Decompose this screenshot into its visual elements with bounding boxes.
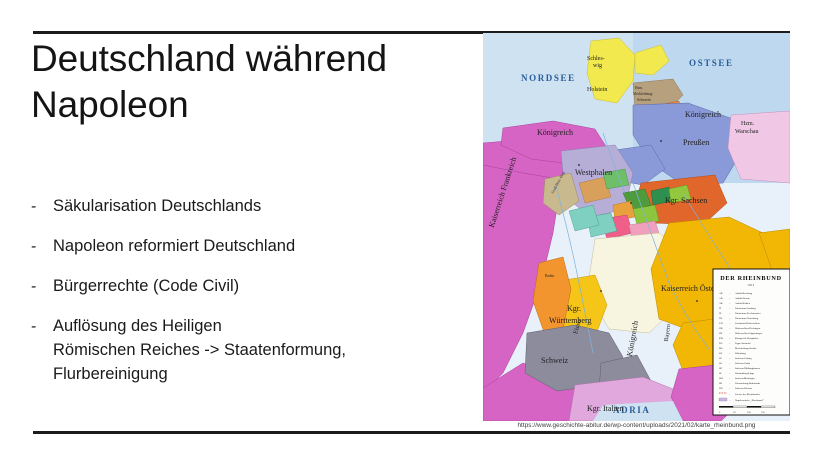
- list-item: - Auflösung des Heiligen Römischen Reich…: [31, 315, 476, 387]
- svg-text:Schaumburg-Lippe: Schaumburg-Lippe: [735, 372, 755, 375]
- svg-text:Mecklenburg-Strelitz: Mecklenburg-Strelitz: [735, 347, 757, 350]
- map-region-label: Preußen: [683, 138, 709, 147]
- svg-text:FI: FI: [719, 307, 721, 310]
- svg-text:HD: HD: [719, 327, 723, 330]
- svg-text:SC: SC: [719, 357, 722, 360]
- list-item-label: Napoleon reformiert Deutschland: [53, 235, 476, 259]
- svg-text:FL: FL: [719, 312, 722, 315]
- page-title: Deutschland während Napoleon: [31, 36, 481, 127]
- svg-text:AD: AD: [719, 297, 723, 300]
- svg-text:Sachsen-Meiningen: Sachsen-Meiningen: [735, 377, 756, 380]
- legend-year: 1812: [747, 284, 754, 287]
- svg-text:Oldenburg: Oldenburg: [735, 352, 746, 355]
- svg-text:SW: SW: [719, 387, 723, 390]
- svg-text:Sachsen-Gotha: Sachsen-Gotha: [735, 362, 751, 365]
- legend-title: DER RHEINBUND: [720, 275, 782, 282]
- map-region-label: Schweiz: [541, 356, 569, 365]
- list-item-label: Bürgerrechte (Code Civil): [53, 275, 476, 299]
- svg-text:Napoleonische „Rheinbund“: Napoleonische „Rheinbund“: [735, 399, 764, 402]
- svg-text:Sachsen-Weimar: Sachsen-Weimar: [735, 387, 752, 390]
- svg-text:FN: FN: [719, 317, 722, 320]
- svg-text:Grafschaft Hohenzollern: Grafschaft Hohenzollern: [735, 322, 761, 325]
- bullet-marker: -: [31, 195, 53, 218]
- bullet-marker: -: [31, 315, 53, 338]
- historical-map-image: NORDSEE OSTSEE ADRIA Schles- wig Holstei…: [483, 33, 790, 421]
- map-region-label: Kgr. Italien: [587, 404, 623, 413]
- map-region-label: Königreich: [685, 110, 721, 119]
- svg-text:SH: SH: [719, 367, 722, 370]
- map-region-label: Warschau: [735, 129, 759, 135]
- svg-text:Fürstentum Neuenburg: Fürstentum Neuenburg: [735, 317, 759, 320]
- bullet-marker: -: [31, 235, 53, 258]
- map-region-label: Kgr.: [567, 304, 581, 313]
- svg-text:Hohenzollern-Sigmaringen: Hohenzollern-Sigmaringen: [735, 332, 763, 335]
- svg-text:AK: AK: [719, 302, 723, 305]
- list-item: - Säkularisation Deutschlands: [31, 195, 476, 219]
- svg-text:AB: AB: [719, 292, 723, 295]
- svg-text:Anhalt-Bernburg: Anhalt-Bernburg: [735, 292, 753, 295]
- map-region-label: Schles-: [587, 56, 605, 62]
- svg-text:Lippe-Detmold: Lippe-Detmold: [735, 342, 751, 345]
- map-region-label: Königreich: [537, 128, 573, 137]
- slide: Deutschland während Napoleon - Säkularis…: [0, 0, 828, 466]
- map-region-label: Württemberg: [549, 316, 592, 325]
- list-item-label: Auflösung des Heiligen Römischen Reiches…: [53, 315, 476, 387]
- svg-text:Fürstentum Liechtenstein: Fürstentum Liechtenstein: [735, 312, 761, 315]
- svg-text:Königreich Westphalen: Königreich Westphalen: [735, 337, 759, 340]
- svg-text:Sachsen-Coburg: Sachsen-Coburg: [735, 357, 752, 360]
- svg-text:SR: SR: [719, 382, 722, 385]
- list-item: - Bürgerrechte (Code Civil): [31, 275, 476, 299]
- list-item: - Napoleon reformiert Deutschland: [31, 235, 476, 259]
- svg-text:Anhalt-Köthen: Anhalt-Köthen: [735, 302, 751, 305]
- bullet-list: - Säkularisation Deutschlands - Napoleon…: [31, 195, 476, 403]
- map-region-label: Mecklenburg-: [633, 92, 654, 96]
- svg-text:OL: OL: [719, 352, 723, 355]
- map-region-label: Schwerin: [637, 98, 651, 102]
- map-region-label: Hzm.: [741, 121, 755, 127]
- map-region-label: Holstein: [587, 87, 607, 93]
- svg-text:Schwarzburg-Rudolstadt: Schwarzburg-Rudolstadt: [735, 382, 760, 385]
- svg-text:Fürstentum Isenburg: Fürstentum Isenburg: [735, 307, 756, 310]
- bullet-marker: -: [31, 275, 53, 298]
- svg-text:Sachsen-Hildburghausen: Sachsen-Hildburghausen: [735, 367, 761, 370]
- map-region-label: Westphalen: [575, 168, 612, 177]
- map-source-caption: https://www.geschichte-abitur.de/wp-cont…: [483, 421, 790, 431]
- svg-text:Hohenzollern-Hechingen: Hohenzollern-Hechingen: [735, 327, 761, 330]
- svg-text:SG: SG: [719, 362, 722, 365]
- svg-text:SL: SL: [719, 372, 722, 375]
- map-region-label: Baden: [545, 274, 554, 278]
- svg-text:GH: GH: [719, 322, 723, 325]
- map-region-label: Hzm.: [635, 86, 643, 90]
- svg-text:MS: MS: [719, 347, 723, 350]
- bottom-divider-rule: [33, 431, 790, 434]
- list-item-label: Säkularisation Deutschlands: [53, 195, 476, 219]
- map-sea-label: OSTSEE: [689, 58, 734, 68]
- map-region-label: Kgr. Sachsen: [665, 196, 707, 205]
- svg-text:LD: LD: [719, 342, 723, 345]
- map-sea-label: NORDSEE: [521, 73, 576, 83]
- map-region-label: wig: [593, 63, 602, 69]
- svg-text:KW: KW: [719, 337, 724, 340]
- svg-text:Anhalt-Dessau: Anhalt-Dessau: [735, 297, 751, 300]
- svg-text:Grenze des Rheinbundes: Grenze des Rheinbundes: [735, 393, 760, 396]
